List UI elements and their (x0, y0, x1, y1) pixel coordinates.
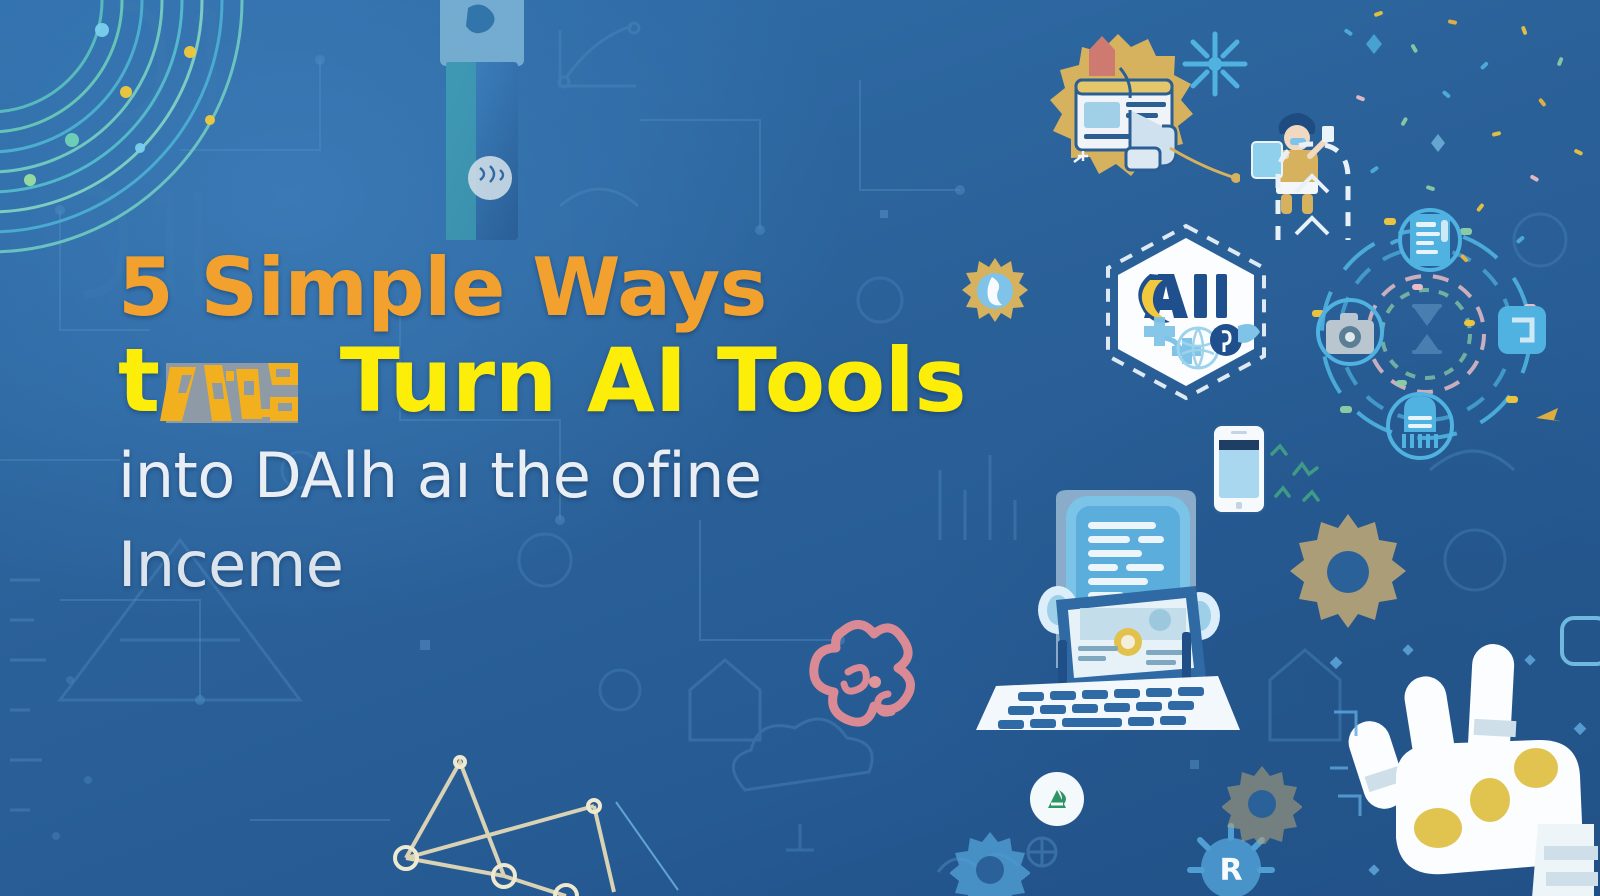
rounded-square-icon (1560, 616, 1600, 666)
headline-line-4: Inceme (118, 520, 1178, 610)
promo-banner: R 5 Simple Ways t (0, 0, 1600, 896)
node-network-icon (380, 740, 680, 896)
splash-icon (1175, 24, 1255, 104)
amoeba-cell-icon (802, 618, 932, 738)
gear-icon (1288, 512, 1408, 632)
svg-text:R: R (1219, 853, 1242, 888)
headline-line-2-prefix: t (118, 329, 160, 432)
gear-small-icon (950, 830, 1030, 896)
headline-block: 5 Simple Ways t (118, 248, 1178, 610)
wave-marks-icon (1264, 434, 1334, 514)
gear-corner-icon (1222, 764, 1302, 844)
left-dashes-icon (0, 560, 120, 860)
headline-line-2-rest: Turn AI Tools (310, 329, 967, 432)
robot-hand-icon (1330, 628, 1600, 896)
headline-line-2: t (118, 332, 1178, 431)
confetti-sparkles-icon (1330, 0, 1600, 280)
dashed-arch-icon (1268, 130, 1358, 250)
headline-line-3: into DAlh aı the ofine (118, 431, 1178, 521)
pin-marker-icon (1088, 36, 1116, 76)
vertical-panel-icon (434, 0, 530, 240)
headline-glitch-glyphs (160, 353, 310, 425)
headline-line-1: 5 Simple Ways (118, 248, 1178, 328)
